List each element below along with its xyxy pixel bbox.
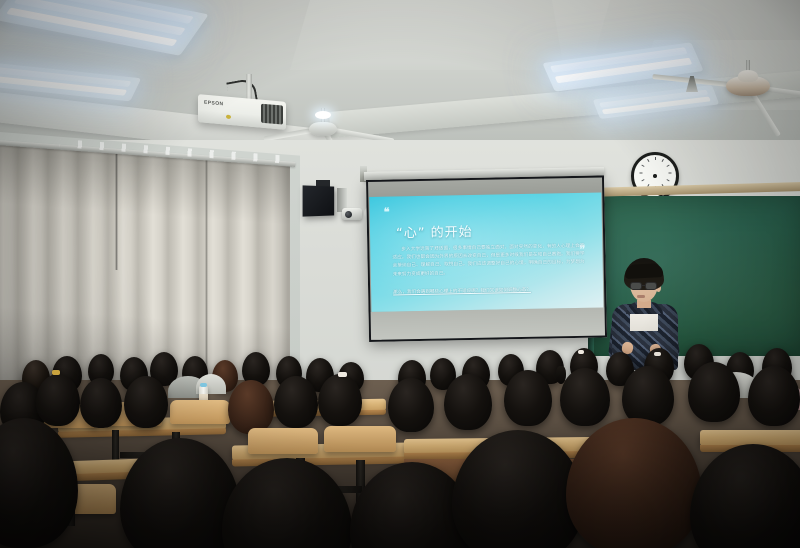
wall-speaker [303, 185, 335, 216]
chair-back [248, 428, 318, 454]
audience-head [504, 370, 552, 426]
bottle-cap [200, 383, 207, 387]
classroom-photo: EPSON [0, 0, 800, 548]
fan-light [315, 111, 331, 119]
glasses-icon [630, 282, 659, 290]
audience-head [444, 374, 492, 430]
curtain-fold [205, 158, 208, 388]
projector-indicator-light [226, 115, 231, 119]
audience-head [688, 362, 740, 422]
hair-clip [338, 372, 347, 377]
audience-head [124, 376, 168, 428]
screen-frame [366, 175, 607, 342]
camera-lens-icon [345, 211, 352, 218]
projection-screen[interactable]: ❝ ❞ “心” 的开始 步入大学远离了舒适圈，很多事情自己要独立面对。面对突然的… [366, 175, 607, 342]
audience-head [388, 378, 434, 432]
presenter-hair-fringe [625, 263, 664, 279]
audience-head [748, 366, 800, 426]
ceiling-fan-right [700, 60, 796, 106]
audience-head [80, 378, 122, 428]
hair-clip [52, 370, 60, 375]
projector-brand-label: EPSON [204, 100, 224, 108]
curtain-fold [115, 150, 118, 270]
audience-head [560, 368, 610, 426]
audience-head [318, 374, 362, 426]
audience-head [36, 374, 80, 426]
hair-clip [578, 350, 584, 354]
hair-clip [654, 352, 661, 356]
audience-head [622, 366, 674, 426]
projector-vent [261, 104, 283, 125]
chair-back [170, 400, 230, 424]
chair-back [324, 426, 396, 452]
audience-head [228, 380, 274, 434]
audience-head [274, 376, 318, 428]
presenter-mouth [637, 295, 645, 298]
